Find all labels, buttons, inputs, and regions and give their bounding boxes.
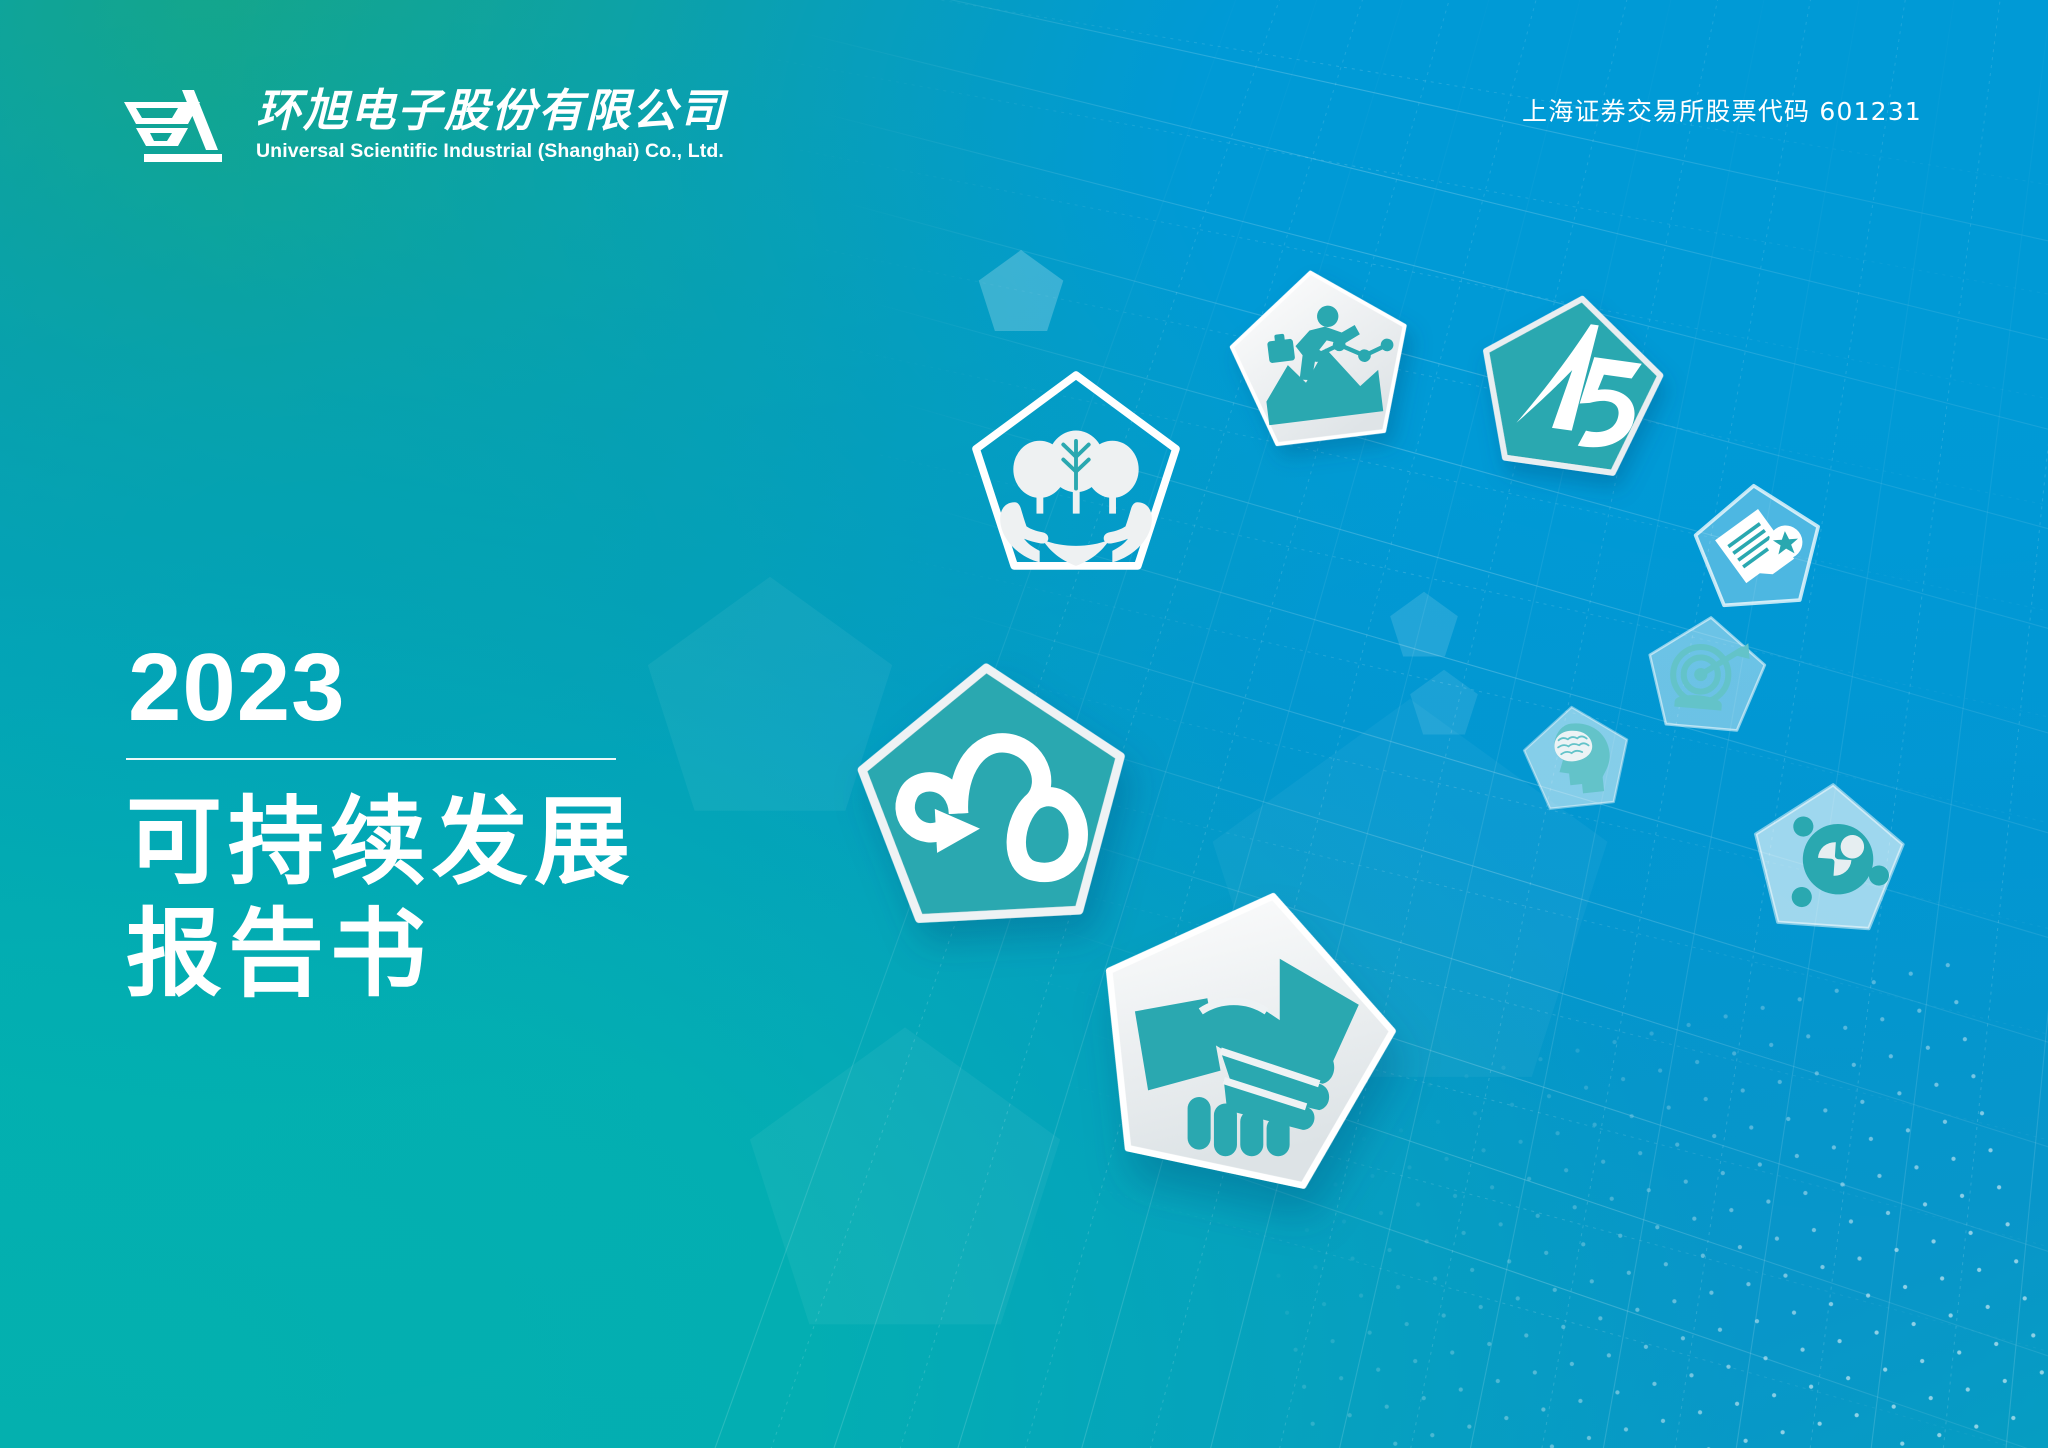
infinity-loop-icon [839,648,1147,945]
badge-anniversary [1458,277,1683,495]
title-divider [126,758,616,760]
report-cover-page: USI 环旭电子股份有限公司 Universal Scientific Indu… [0,0,2048,1448]
usi-logo-text: 环旭电子股份有限公司 Universal Scientific Industri… [256,86,726,163]
report-year: 2023 [128,640,764,736]
target-arrow-icon [1635,606,1777,743]
badge-compliance [1683,475,1832,618]
cover-title-block: 2023 可持续发展 报告书 [124,640,764,1010]
fifteen-years-icon [1458,277,1683,495]
certificate-icon [1683,475,1832,618]
usi-logo: USI 环旭电子股份有限公司 Universal Scientific Indu… [122,86,726,166]
badge-circularity [839,648,1147,945]
badge-growth [1211,253,1431,466]
company-name-en: Universal Scientific Industrial (Shangha… [256,139,726,163]
trees-in-hands-icon [962,366,1190,584]
business-growth-icon [1211,253,1431,466]
handshake-icon [1049,849,1437,1227]
stock-code-label: 上海证券交易所股票代码 601231 [1522,92,1922,128]
badge-environment [962,366,1190,584]
badge-innovation [1512,696,1641,821]
badge-goal [1635,606,1777,743]
people-community-icon [1739,772,1918,944]
company-name-cn: 环旭电子股份有限公司 [256,86,726,136]
usi-logo-mark-icon: USI [122,88,240,166]
badge-community [1739,772,1918,944]
report-title: 可持续发展 报告书 [126,786,764,1010]
badge-partnership [1049,849,1437,1227]
brain-head-icon [1512,696,1641,821]
cover-header: USI 环旭电子股份有限公司 Universal Scientific Indu… [0,0,2048,200]
